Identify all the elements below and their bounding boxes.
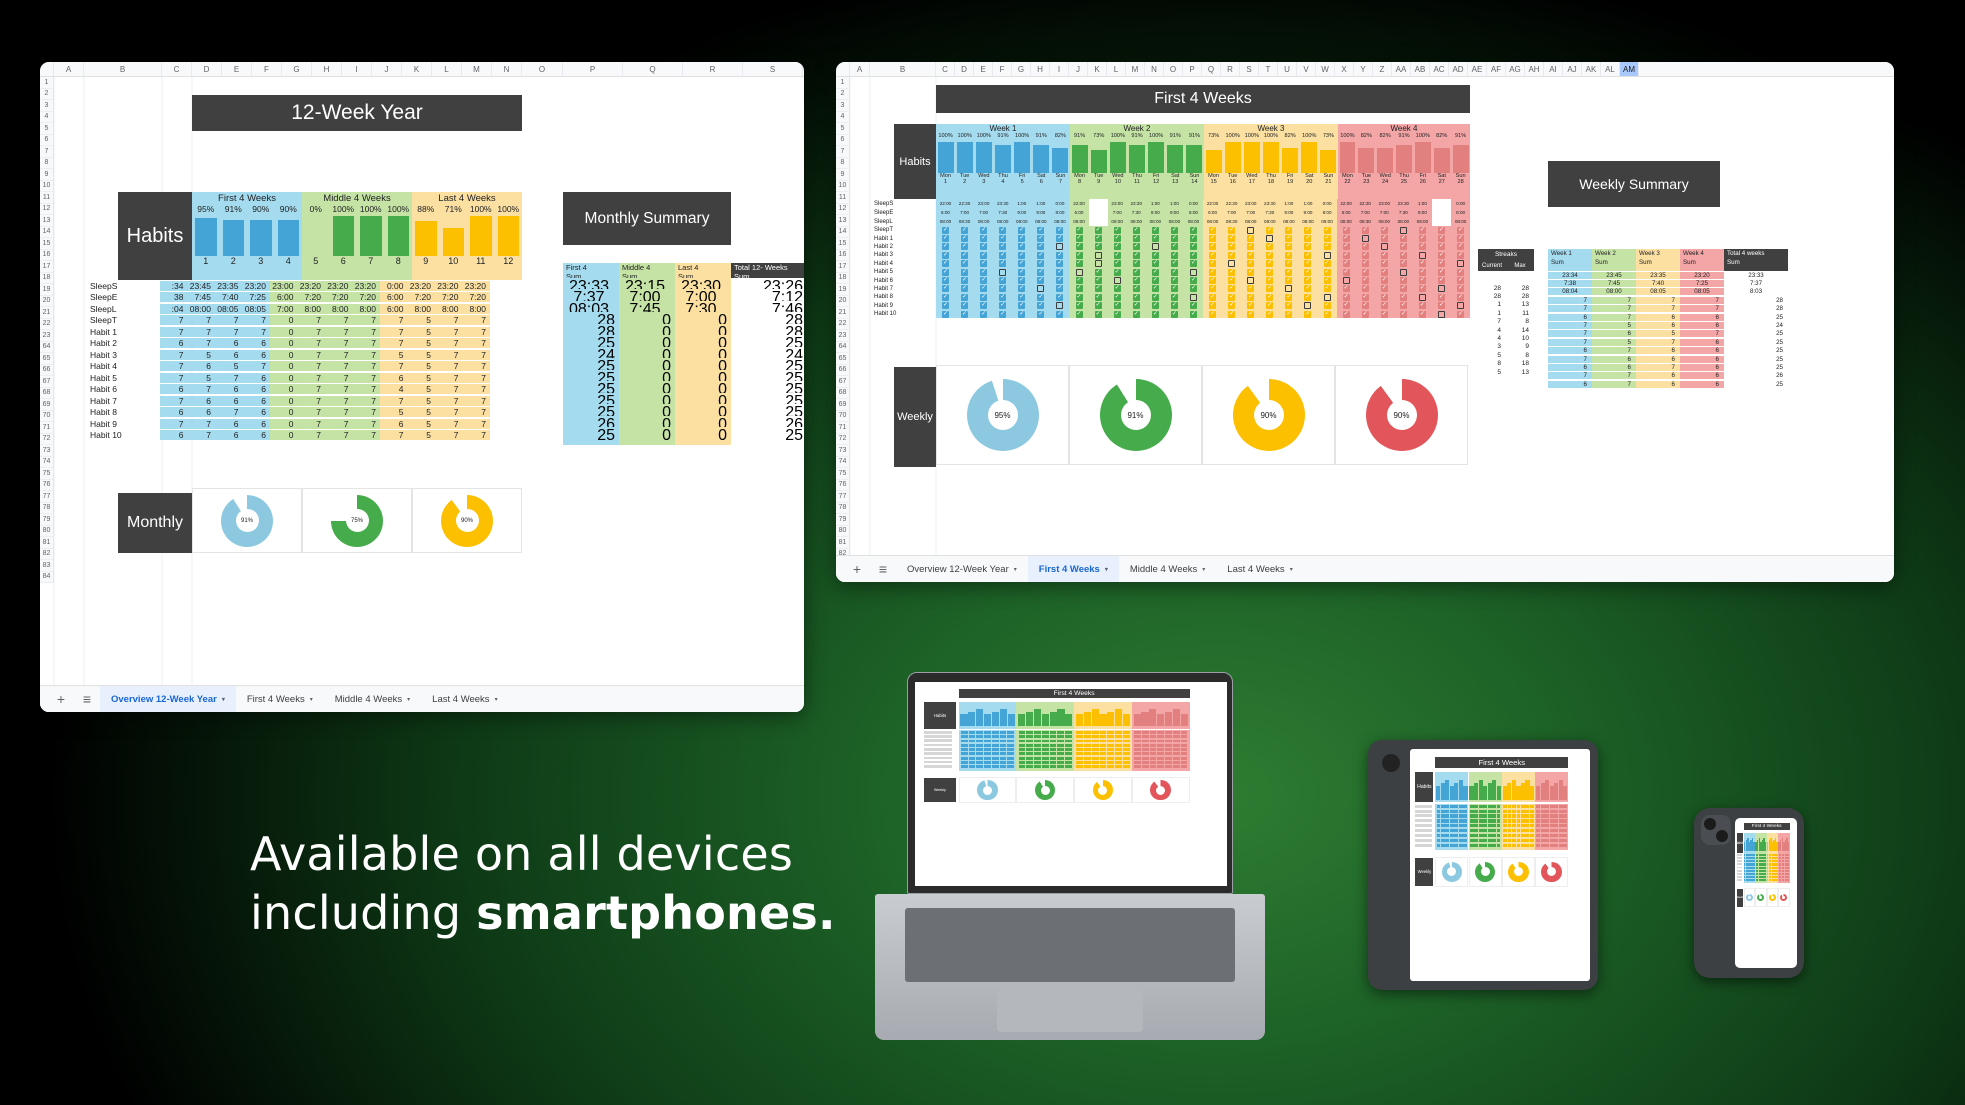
column-header-D[interactable]: D xyxy=(192,62,222,76)
checkbox-cell[interactable]: ✓ xyxy=(1184,226,1203,234)
data-cell[interactable]: 5 xyxy=(408,361,436,371)
data-cell[interactable]: 0 xyxy=(270,373,298,383)
corner-cell[interactable] xyxy=(836,62,850,76)
habit-checkbox[interactable]: ✓ xyxy=(1152,294,1159,301)
summary-cell[interactable]: 6 xyxy=(1548,381,1592,388)
data-cell[interactable]: 7 xyxy=(325,338,353,348)
habit-checkbox[interactable] xyxy=(1400,227,1407,234)
data-cell[interactable]: 7 xyxy=(463,373,491,383)
sleep-cell[interactable]: 6:00 xyxy=(1069,208,1088,217)
checkbox-cell[interactable]: ✓ xyxy=(1108,302,1127,310)
habit-checkbox[interactable]: ✓ xyxy=(1419,260,1426,267)
summary-cell[interactable]: 7 xyxy=(1548,356,1592,363)
sleep-cell[interactable]: 8:00 xyxy=(1050,208,1069,217)
data-cell[interactable]: 5 xyxy=(408,338,436,348)
sleep-cell[interactable]: 08:00 xyxy=(1108,217,1127,226)
habit-checkbox[interactable]: ✓ xyxy=(1037,235,1044,242)
checkbox-cell[interactable] xyxy=(1337,276,1356,284)
habit-checkbox[interactable]: ✓ xyxy=(999,235,1006,242)
checkbox-cell[interactable]: ✓ xyxy=(1241,285,1260,293)
habit-checkbox[interactable] xyxy=(1324,252,1331,259)
habit-checkbox[interactable]: ✓ xyxy=(999,277,1006,284)
habit-checkbox[interactable]: ✓ xyxy=(1018,269,1025,276)
checkbox-cell[interactable]: ✓ xyxy=(993,226,1012,234)
habit-checkbox[interactable]: ✓ xyxy=(999,285,1006,292)
column-header-AA[interactable]: AA xyxy=(1392,62,1411,76)
chevron-down-icon[interactable]: ▾ xyxy=(495,696,498,703)
habit-checkbox[interactable]: ✓ xyxy=(961,260,968,267)
habit-checkbox[interactable]: ✓ xyxy=(1152,311,1159,318)
habit-checkbox[interactable] xyxy=(1419,252,1426,259)
sleep-cell[interactable]: 1:00 xyxy=(1031,199,1050,208)
data-cell[interactable]: 6 xyxy=(160,407,188,417)
checkbox-cell[interactable]: ✓ xyxy=(1375,293,1394,301)
summary-cell[interactable]: 7 xyxy=(1548,330,1592,337)
data-cell[interactable]: 7 xyxy=(298,338,326,348)
first4weeks-grid[interactable]: 1234567891011121314151617181920212223646… xyxy=(836,77,1894,582)
table-row[interactable]: Habit 10✓✓✓✓✓✓✓✓✓✓✓✓✓✓✓✓✓✓✓✓✓✓✓✓✓✓✓ xyxy=(870,310,1470,318)
row-header-3[interactable]: 3 xyxy=(40,100,53,112)
column-header-AM[interactable]: AM xyxy=(1620,62,1639,76)
habit-checkbox[interactable]: ✓ xyxy=(980,260,987,267)
table-row[interactable]: Habit 5757607776577 xyxy=(84,372,522,384)
data-cell[interactable]: 8:00 xyxy=(325,304,353,314)
data-cell[interactable]: 7 xyxy=(463,315,491,325)
habit-checkbox[interactable]: ✓ xyxy=(1381,311,1388,318)
checkbox-cell[interactable]: ✓ xyxy=(1260,276,1279,284)
habit-checkbox[interactable]: ✓ xyxy=(1266,294,1273,301)
chevron-down-icon[interactable]: ▾ xyxy=(1105,566,1108,573)
habit-checkbox[interactable]: ✓ xyxy=(1400,294,1407,301)
checkbox-cell[interactable]: ✓ xyxy=(1260,226,1279,234)
data-cell[interactable]: 7 xyxy=(353,327,381,337)
streak-cell[interactable]: 18 xyxy=(1506,360,1534,367)
checkbox-cell[interactable]: ✓ xyxy=(1069,243,1088,251)
habit-checkbox[interactable]: ✓ xyxy=(1056,260,1063,267)
data-cell[interactable]: 7 xyxy=(353,373,381,383)
column-header-O[interactable]: O xyxy=(522,62,563,76)
habit-checkbox[interactable]: ✓ xyxy=(1438,302,1445,309)
row-header-6[interactable]: 6 xyxy=(836,135,849,147)
checkbox-cell[interactable]: ✓ xyxy=(1318,243,1337,251)
checkbox-cell[interactable]: ✓ xyxy=(1337,310,1356,318)
checkbox-cell[interactable]: ✓ xyxy=(1413,268,1432,276)
streak-cell[interactable]: 9 xyxy=(1506,343,1534,350)
checkbox-cell[interactable]: ✓ xyxy=(1127,310,1146,318)
row-header-13[interactable]: 13 xyxy=(40,215,53,227)
data-cell[interactable]: 7 xyxy=(380,430,408,440)
habit-checkbox[interactable]: ✓ xyxy=(980,302,987,309)
row-header-10[interactable]: 10 xyxy=(836,181,849,193)
row-header-8[interactable]: 8 xyxy=(836,158,849,170)
checkbox-cell[interactable] xyxy=(1260,234,1279,242)
checkbox-cell[interactable]: ✓ xyxy=(1031,302,1050,310)
checkbox-cell[interactable]: ✓ xyxy=(1203,234,1222,242)
data-cell[interactable]: 6 xyxy=(380,373,408,383)
habit-checkbox[interactable]: ✓ xyxy=(1190,260,1197,267)
data-cell[interactable]: 6 xyxy=(215,350,243,360)
habit-checkbox[interactable]: ✓ xyxy=(1171,294,1178,301)
data-cell[interactable]: 0 xyxy=(270,419,298,429)
row-header-5[interactable]: 5 xyxy=(836,123,849,135)
sleep-cell[interactable]: 08:00 xyxy=(1451,217,1470,226)
data-cell[interactable]: 7 xyxy=(188,419,216,429)
checkbox-cell[interactable] xyxy=(1298,302,1317,310)
habit-checkbox[interactable]: ✓ xyxy=(961,252,968,259)
checkbox-cell[interactable]: ✓ xyxy=(1089,234,1108,242)
table-row[interactable]: 08:0408:0008:0508:058:03 xyxy=(1548,288,1788,296)
data-cell[interactable]: 23:20 xyxy=(325,281,353,291)
row-header-82[interactable]: 82 xyxy=(40,549,53,561)
habit-checkbox[interactable]: ✓ xyxy=(1285,311,1292,318)
checkbox-cell[interactable]: ✓ xyxy=(1356,310,1375,318)
habit-checkbox[interactable]: ✓ xyxy=(1362,294,1369,301)
checkbox-cell[interactable]: ✓ xyxy=(1012,260,1031,268)
habit-checkbox[interactable] xyxy=(1056,302,1063,309)
row-header-14[interactable]: 14 xyxy=(40,227,53,239)
habit-checkbox[interactable] xyxy=(1285,285,1292,292)
weekly-summary-table[interactable]: 23:3423:4523:3523:2023:337:387:457:407:2… xyxy=(1548,271,1788,388)
row-header-74[interactable]: 74 xyxy=(836,457,849,469)
checkbox-cell[interactable]: ✓ xyxy=(1356,260,1375,268)
habit-checkbox[interactable]: ✓ xyxy=(1076,302,1083,309)
checkbox-cell[interactable] xyxy=(1241,276,1260,284)
data-cell[interactable]: 0 xyxy=(270,384,298,394)
habit-checkbox[interactable] xyxy=(1400,269,1407,276)
habit-checkbox[interactable]: ✓ xyxy=(1285,277,1292,284)
data-cell[interactable]: 5 xyxy=(215,361,243,371)
summary-cell[interactable]: 7 xyxy=(1680,297,1724,304)
column-header-K[interactable]: K xyxy=(1088,62,1107,76)
table-row[interactable]: 7:387:457:407:257:37 xyxy=(1548,279,1788,287)
sheet-tab-middle-4-weeks[interactable]: Middle 4 Weeks▾ xyxy=(1119,556,1216,583)
habit-checkbox[interactable] xyxy=(1190,269,1197,276)
habit-checkbox[interactable]: ✓ xyxy=(961,227,968,234)
checkbox-cell[interactable]: ✓ xyxy=(974,260,993,268)
data-cell[interactable]: 7 xyxy=(215,315,243,325)
checkbox-cell[interactable]: ✓ xyxy=(974,276,993,284)
streak-cell[interactable]: 5 xyxy=(1478,352,1506,359)
row-header-10[interactable]: 10 xyxy=(40,181,53,193)
row-header-22[interactable]: 22 xyxy=(40,319,53,331)
summary-cell[interactable]: 7 xyxy=(1592,314,1636,321)
habit-checkbox[interactable]: ✓ xyxy=(1095,311,1102,318)
habit-checkbox[interactable]: ✓ xyxy=(1095,227,1102,234)
summary-cell[interactable]: 6 xyxy=(1592,364,1636,371)
data-cell[interactable]: 23:20 xyxy=(353,281,381,291)
habit-checkbox[interactable]: ✓ xyxy=(1171,311,1178,318)
sleep-cell[interactable]: 08:00 xyxy=(1050,217,1069,226)
sleep-cell[interactable]: 08:00 xyxy=(1241,217,1260,226)
checkbox-cell[interactable]: ✓ xyxy=(993,293,1012,301)
data-cell[interactable]: 7 xyxy=(243,361,271,371)
habit-checkbox[interactable]: ✓ xyxy=(1114,235,1121,242)
column-header-F[interactable]: F xyxy=(252,62,282,76)
habit-checkbox[interactable]: ✓ xyxy=(1304,294,1311,301)
habit-checkbox[interactable]: ✓ xyxy=(1381,277,1388,284)
table-row[interactable]: 39 xyxy=(1478,343,1534,351)
data-cell[interactable]: 7 xyxy=(435,430,463,440)
checkbox-cell[interactable]: ✓ xyxy=(1012,302,1031,310)
data-cell[interactable]: 8:00 xyxy=(463,304,491,314)
column-header-Z[interactable]: Z xyxy=(1373,62,1392,76)
data-cell[interactable]: 7:20 xyxy=(325,292,353,302)
data-cell[interactable]: 7 xyxy=(298,407,326,417)
habit-checkbox[interactable]: ✓ xyxy=(1247,311,1254,318)
checkbox-cell[interactable]: ✓ xyxy=(1260,310,1279,318)
checkbox-cell[interactable] xyxy=(1184,293,1203,301)
checkbox-cell[interactable]: ✓ xyxy=(1203,268,1222,276)
sleep-cell[interactable]: 7:30 xyxy=(1127,208,1146,217)
data-cell[interactable]: 6 xyxy=(243,419,271,429)
sleep-cell[interactable]: 9:00 xyxy=(1031,208,1050,217)
habit-checkbox[interactable]: ✓ xyxy=(1247,252,1254,259)
habit-checkbox[interactable]: ✓ xyxy=(980,227,987,234)
summary-cell[interactable]: 6 xyxy=(1636,314,1680,321)
checkbox-cell[interactable]: ✓ xyxy=(1127,260,1146,268)
habit-checkbox[interactable] xyxy=(1114,277,1121,284)
checkbox-cell[interactable]: ✓ xyxy=(1127,251,1146,259)
data-cell[interactable]: 23:20 xyxy=(435,281,463,291)
data-cell[interactable]: 7 xyxy=(325,350,353,360)
checkbox-cell[interactable]: ✓ xyxy=(1375,260,1394,268)
data-cell[interactable]: 7 xyxy=(160,315,188,325)
habit-checkbox[interactable]: ✓ xyxy=(1076,260,1083,267)
data-cell[interactable]: 5 xyxy=(380,350,408,360)
habit-checkbox[interactable]: ✓ xyxy=(1228,243,1235,250)
habit-checkbox[interactable]: ✓ xyxy=(1457,235,1464,242)
checkbox-cell[interactable]: ✓ xyxy=(1012,243,1031,251)
laptop-screen-content[interactable]: First 4 WeeksHabitsWeeklyOverview 12-Wee… xyxy=(915,682,1227,886)
checkbox-cell[interactable] xyxy=(1432,310,1451,318)
data-cell[interactable]: 0 xyxy=(270,315,298,325)
data-cell[interactable]: 7 xyxy=(298,430,326,440)
chevron-down-icon[interactable]: ▾ xyxy=(1202,566,1205,573)
data-cell[interactable]: 5 xyxy=(408,407,436,417)
data-cell[interactable]: 5 xyxy=(408,315,436,325)
checkbox-cell[interactable]: ✓ xyxy=(1337,293,1356,301)
data-cell[interactable]: 7:20 xyxy=(298,292,326,302)
data-cell[interactable]: 6 xyxy=(160,384,188,394)
habit-checkbox[interactable]: ✓ xyxy=(1171,227,1178,234)
sleep-cell[interactable]: 08:00 xyxy=(974,217,993,226)
data-cell[interactable]: 0 xyxy=(270,430,298,440)
data-cell[interactable]: 6 xyxy=(160,430,188,440)
checkbox-cell[interactable]: ✓ xyxy=(1337,260,1356,268)
habit-checkbox[interactable]: ✓ xyxy=(961,294,968,301)
sleep-cell[interactable]: 08:00 xyxy=(1146,217,1165,226)
habit-checkbox[interactable]: ✓ xyxy=(1037,277,1044,284)
habit-checkbox[interactable]: ✓ xyxy=(1152,277,1159,284)
table-row[interactable]: 818 xyxy=(1478,360,1534,368)
checkbox-cell[interactable]: ✓ xyxy=(993,276,1012,284)
row-header-15[interactable]: 15 xyxy=(40,238,53,250)
column-header-E[interactable]: E xyxy=(222,62,252,76)
checkbox-cell[interactable]: ✓ xyxy=(1356,276,1375,284)
data-cell[interactable]: 38 xyxy=(160,292,188,302)
sleep-cell[interactable]: 23:00 xyxy=(1375,199,1394,208)
habit-checkbox[interactable]: ✓ xyxy=(1190,227,1197,234)
sleep-cell[interactable]: 8:00 xyxy=(1318,208,1337,217)
checkbox-cell[interactable]: ✓ xyxy=(1127,243,1146,251)
summary-cell[interactable]: 7 xyxy=(1548,305,1592,312)
habit-checkbox[interactable]: ✓ xyxy=(1037,252,1044,259)
checkbox-cell[interactable]: ✓ xyxy=(993,302,1012,310)
habit-checkbox[interactable]: ✓ xyxy=(1400,260,1407,267)
habit-checkbox[interactable]: ✓ xyxy=(1419,285,1426,292)
sleep-cell[interactable]: 08:00 xyxy=(1413,217,1432,226)
habit-checkbox[interactable]: ✓ xyxy=(1266,252,1273,259)
habit-checkbox[interactable]: ✓ xyxy=(1324,260,1331,267)
checkbox-cell[interactable]: ✓ xyxy=(1050,310,1069,318)
checkbox-cell[interactable]: ✓ xyxy=(1089,285,1108,293)
habit-checkbox[interactable]: ✓ xyxy=(1457,243,1464,250)
habit-checkbox[interactable]: ✓ xyxy=(1171,277,1178,284)
habit-checkbox[interactable]: ✓ xyxy=(1457,311,1464,318)
checkbox-cell[interactable]: ✓ xyxy=(1241,302,1260,310)
checkbox-cell[interactable]: ✓ xyxy=(1089,243,1108,251)
data-cell[interactable]: 7 xyxy=(188,384,216,394)
checkbox-cell[interactable]: ✓ xyxy=(936,268,955,276)
streak-cell[interactable]: 5 xyxy=(1478,369,1506,376)
column-header-AE[interactable]: AE xyxy=(1468,62,1487,76)
checkbox-cell[interactable]: ✓ xyxy=(1050,276,1069,284)
tablet-screen-content[interactable]: First 4 WeeksHabitsWeeklyOverview 12-Wee… xyxy=(1410,749,1590,981)
data-cell[interactable]: 23:20 xyxy=(298,281,326,291)
column-header-AF[interactable]: AF xyxy=(1487,62,1506,76)
data-cell[interactable]: 7 xyxy=(435,350,463,360)
table-row[interactable]: 250025 xyxy=(563,431,804,443)
row-header-column[interactable]: 1234567891011121314151617181920212223646… xyxy=(836,77,850,582)
data-cell[interactable]: 7 xyxy=(243,327,271,337)
table-row[interactable]: Habit 2✓✓✓✓✓✓✓✓✓✓✓✓✓✓✓✓✓✓✓✓✓✓✓✓✓ xyxy=(870,243,1470,251)
sleep-cell[interactable]: 08:30 xyxy=(1356,217,1375,226)
checkbox-cell[interactable]: ✓ xyxy=(936,302,955,310)
sleep-cell[interactable]: 23:30 xyxy=(1394,199,1413,208)
checkbox-cell[interactable] xyxy=(1413,293,1432,301)
habit-checkbox[interactable]: ✓ xyxy=(1018,285,1025,292)
habit-checkbox[interactable]: ✓ xyxy=(1095,302,1102,309)
sleep-cell[interactable]: 9:00 xyxy=(1298,208,1317,217)
checkbox-cell[interactable]: ✓ xyxy=(1031,293,1050,301)
checkbox-cell[interactable]: ✓ xyxy=(1031,260,1050,268)
data-cell[interactable]: 7 xyxy=(160,327,188,337)
summary-cell[interactable]: 25 xyxy=(1724,339,1788,346)
data-cell[interactable]: 6:00 xyxy=(380,292,408,302)
habit-checkbox[interactable]: ✓ xyxy=(942,294,949,301)
table-row[interactable]: SleepT777707777577 xyxy=(84,315,522,327)
habit-checkbox[interactable]: ✓ xyxy=(1343,260,1350,267)
habit-checkbox[interactable]: ✓ xyxy=(1362,277,1369,284)
table-row[interactable]: 676625 xyxy=(1548,313,1788,321)
sleep-cell[interactable]: 22:00 xyxy=(1069,199,1088,208)
habit-checkbox[interactable]: ✓ xyxy=(1362,260,1369,267)
row-header-19[interactable]: 19 xyxy=(40,284,53,296)
habit-checkbox[interactable]: ✓ xyxy=(1247,285,1254,292)
habit-checkbox[interactable]: ✓ xyxy=(961,285,968,292)
data-cell[interactable]: 5 xyxy=(188,373,216,383)
checkbox-cell[interactable] xyxy=(1451,302,1470,310)
checkbox-cell[interactable]: ✓ xyxy=(1241,260,1260,268)
row-header-7[interactable]: 7 xyxy=(836,146,849,158)
row-header-16[interactable]: 16 xyxy=(836,250,849,262)
habit-checkbox[interactable]: ✓ xyxy=(980,311,987,318)
data-cell[interactable]: 7 xyxy=(463,327,491,337)
summary-cell[interactable]: 7 xyxy=(1548,339,1592,346)
checkbox-cell[interactable]: ✓ xyxy=(955,293,974,301)
summary-cell[interactable]: 23:45 xyxy=(1592,272,1636,279)
summary-cell[interactable]: 6 xyxy=(1592,330,1636,337)
checkbox-cell[interactable]: ✓ xyxy=(936,276,955,284)
row-header-75[interactable]: 75 xyxy=(836,468,849,480)
habit-checkbox[interactable]: ✓ xyxy=(1114,302,1121,309)
data-cell[interactable]: 7 xyxy=(380,361,408,371)
habit-checkbox[interactable]: ✓ xyxy=(1190,277,1197,284)
checkbox-cell[interactable]: ✓ xyxy=(1108,310,1127,318)
column-header-X[interactable]: X xyxy=(1335,62,1354,76)
habit-checkbox[interactable]: ✓ xyxy=(1095,235,1102,242)
column-header-V[interactable]: V xyxy=(1297,62,1316,76)
streak-cell[interactable]: 28 xyxy=(1506,285,1534,292)
habit-checkbox[interactable]: ✓ xyxy=(1285,243,1292,250)
column-header-AK[interactable]: AK xyxy=(1582,62,1601,76)
habit-checkbox[interactable]: ✓ xyxy=(1419,302,1426,309)
habit-checkbox[interactable] xyxy=(1324,294,1331,301)
data-cell[interactable]: 7 xyxy=(353,430,381,440)
table-row[interactable]: 23:3423:4523:3523:2023:33 xyxy=(1548,271,1788,279)
habit-checkbox[interactable] xyxy=(999,269,1006,276)
habit-checkbox[interactable]: ✓ xyxy=(1133,235,1140,242)
summary-cell[interactable]: 7 xyxy=(1592,381,1636,388)
checkbox-cell[interactable]: ✓ xyxy=(1184,251,1203,259)
checkbox-cell[interactable]: ✓ xyxy=(1146,285,1165,293)
row-header-70[interactable]: 70 xyxy=(836,411,849,423)
sleep-cell[interactable]: 08:00 xyxy=(1298,217,1317,226)
sheet-tab-middle-4-weeks[interactable]: Middle 4 Weeks▾ xyxy=(324,686,421,713)
habit-checkbox[interactable]: ✓ xyxy=(999,260,1006,267)
table-row[interactable]: Habit 1✓✓✓✓✓✓✓✓✓✓✓✓✓✓✓✓✓✓✓✓✓✓✓✓✓✓ xyxy=(870,234,1470,242)
summary-cell[interactable]: 6 xyxy=(1680,339,1724,346)
table-row[interactable]: 777728 xyxy=(1548,296,1788,304)
checkbox-cell[interactable]: ✓ xyxy=(1012,226,1031,234)
habit-checkbox[interactable]: ✓ xyxy=(1381,252,1388,259)
checkbox-cell[interactable]: ✓ xyxy=(1069,226,1088,234)
sleep-cell[interactable]: 22:00 xyxy=(936,199,955,208)
checkbox-cell[interactable] xyxy=(1089,251,1108,259)
row-header-64[interactable]: 64 xyxy=(40,342,53,354)
checkbox-cell[interactable]: ✓ xyxy=(1203,293,1222,301)
summary-cell[interactable]: 6 xyxy=(1548,314,1592,321)
habit-checkbox[interactable]: ✓ xyxy=(1324,311,1331,318)
summary-cell[interactable]: 25 xyxy=(1724,356,1788,363)
checkbox-cell[interactable]: ✓ xyxy=(1165,268,1184,276)
checkbox-cell[interactable]: ✓ xyxy=(1089,226,1108,234)
checkbox-cell[interactable]: ✓ xyxy=(1260,243,1279,251)
overview-grid[interactable]: 1234567891011121314151617181920212223646… xyxy=(40,77,804,712)
column-header-P[interactable]: P xyxy=(563,62,623,76)
table-row[interactable]: Habit 9776607776577 xyxy=(84,418,522,430)
streak-cell[interactable]: 8 xyxy=(1506,352,1534,359)
habit-checkbox[interactable]: ✓ xyxy=(1152,235,1159,242)
habit-checkbox[interactable]: ✓ xyxy=(1247,269,1254,276)
streak-cell[interactable]: 28 xyxy=(1478,293,1506,300)
checkbox-cell[interactable]: ✓ xyxy=(1451,310,1470,318)
column-header-T[interactable]: T xyxy=(1259,62,1278,76)
checkbox-cell[interactable]: ✓ xyxy=(1298,260,1317,268)
checkbox-cell[interactable]: ✓ xyxy=(1298,285,1317,293)
row-header-71[interactable]: 71 xyxy=(40,422,53,434)
table-row[interactable]: 676625 xyxy=(1548,380,1788,388)
